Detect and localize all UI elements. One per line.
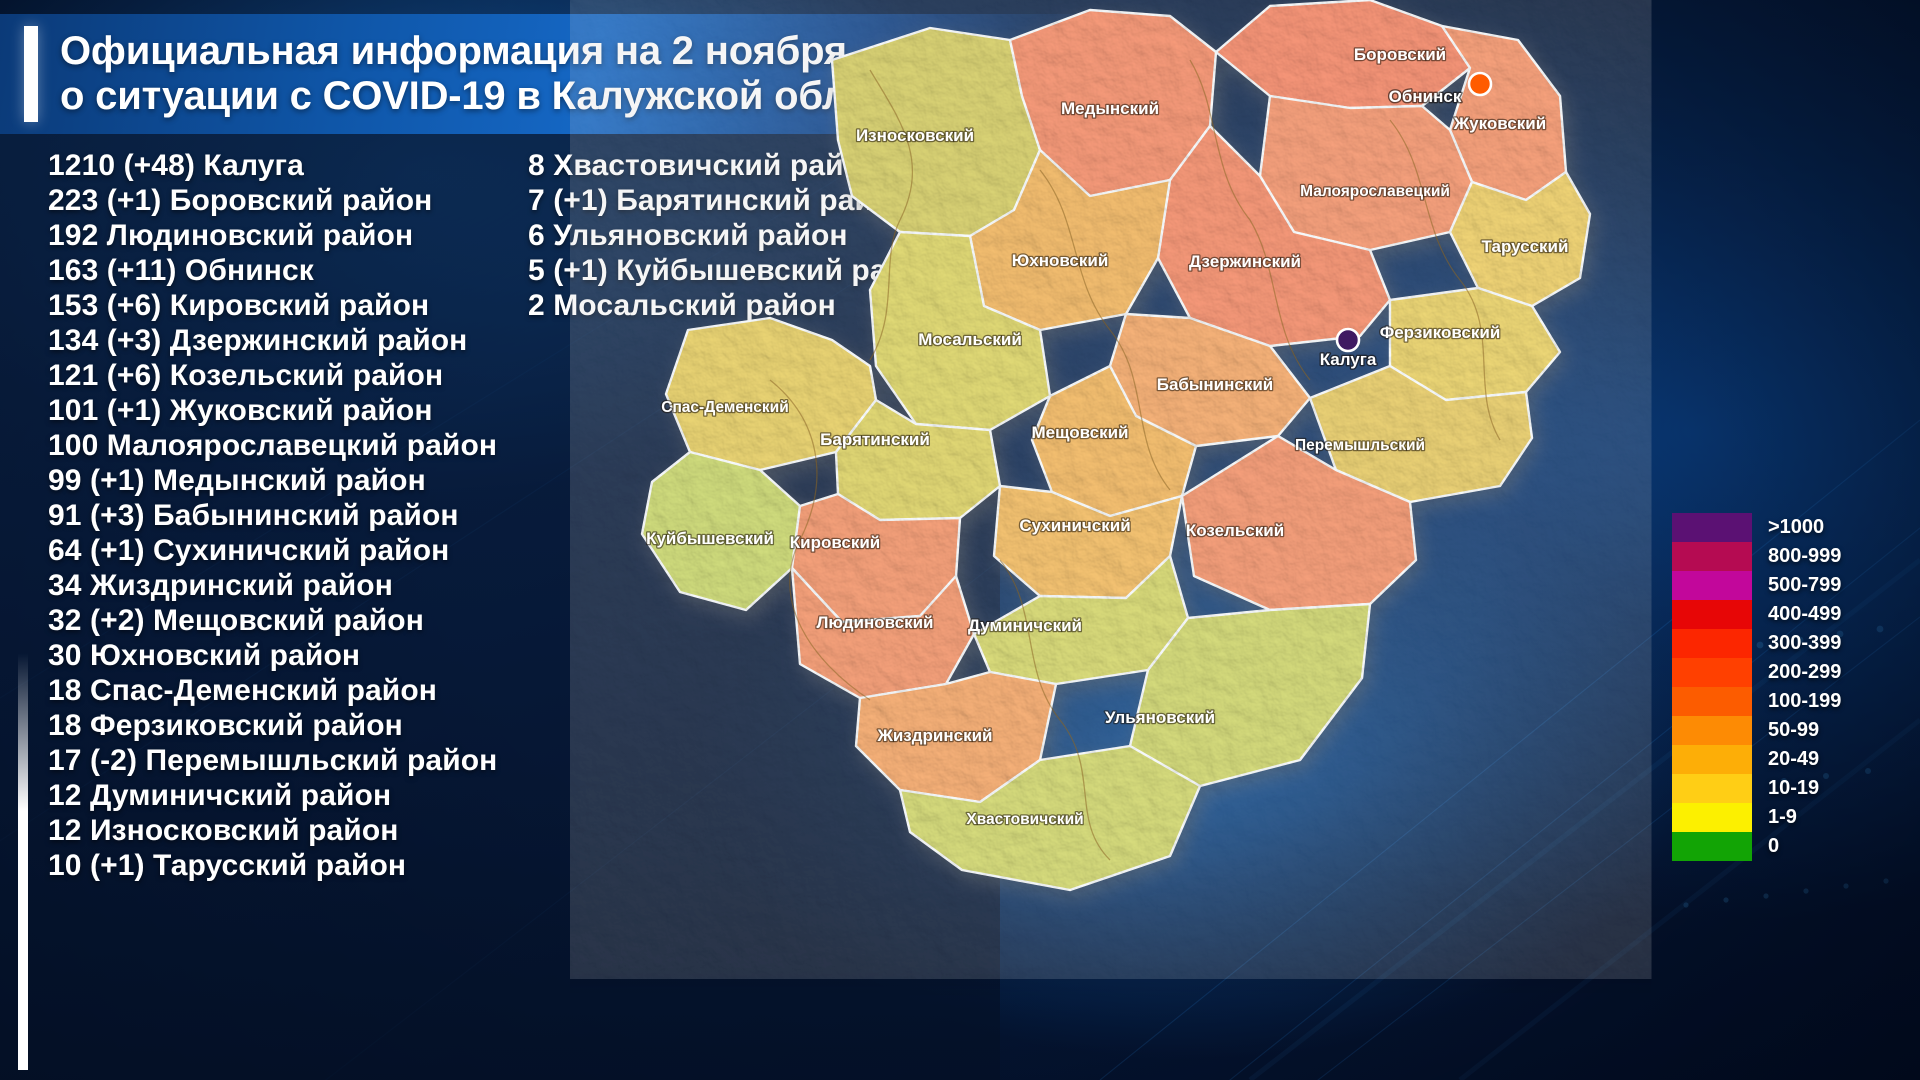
statistic-row: 34 Жиздринский район [48, 568, 528, 603]
statistic-row: 12 Думиничский район [48, 778, 528, 813]
statistic-row: 153 (+6) Кировский район [48, 288, 528, 323]
district-label: Тарусский [1482, 237, 1569, 256]
legend-label: 50-99 [1768, 716, 1841, 745]
district-label: Жуковский [1453, 114, 1546, 133]
legend-swatch [1672, 571, 1752, 600]
district-label: Кировский [790, 533, 881, 552]
statistic-row: 18 Спас-Деменский район [48, 673, 528, 708]
legend-label: 0 [1768, 832, 1841, 861]
district-label: Барятинский [820, 430, 930, 449]
district-label: Козельский [1186, 521, 1284, 540]
legend-label: 100-199 [1768, 687, 1841, 716]
statistic-row: 192 Людиновский район [48, 218, 528, 253]
district-label: Думиничский [968, 616, 1082, 635]
statistics-column-primary: 1210 (+48) Калуга223 (+1) Боровский райо… [48, 148, 528, 883]
legend-swatch [1672, 745, 1752, 774]
panel-accent-bar [18, 144, 28, 1070]
district-label: Ульяновский [1105, 708, 1215, 727]
legend-label: 1-9 [1768, 803, 1841, 832]
statistic-row: 17 (-2) Перемышльский район [48, 743, 528, 778]
district-label: Износковский [856, 126, 974, 145]
city-dot-icon [1469, 73, 1491, 95]
district-label: Бабынинский [1157, 375, 1274, 394]
legend-swatch [1672, 629, 1752, 658]
district-label: Хвастовичский [966, 811, 1083, 828]
statistic-row: 163 (+11) Обнинск [48, 253, 528, 288]
district-label: Людиновский [816, 613, 933, 632]
statistic-row: 91 (+3) Бабынинский район [48, 498, 528, 533]
legend-swatch [1672, 600, 1752, 629]
legend-label: 500-799 [1768, 571, 1841, 600]
statistic-row: 12 Износковский район [48, 813, 528, 848]
city-dot-icon [1337, 329, 1359, 351]
district-label: Боровский [1354, 45, 1446, 64]
legend-label: 20-49 [1768, 745, 1841, 774]
statistic-row: 134 (+3) Дзержинский район [48, 323, 528, 358]
district-label: Медынский [1061, 99, 1159, 118]
legend-swatch [1672, 687, 1752, 716]
legend-swatch [1672, 803, 1752, 832]
legend-label: 400-499 [1768, 600, 1841, 629]
district-label: Дзержинский [1189, 252, 1301, 271]
legend-swatch [1672, 832, 1752, 861]
statistic-row: 100 Малоярославецкий район [48, 428, 528, 463]
city-label: Обнинск [1389, 87, 1462, 106]
statistic-row: 64 (+1) Сухиничский район [48, 533, 528, 568]
statistic-row: 32 (+2) Мещовский район [48, 603, 528, 638]
legend-swatch [1672, 716, 1752, 745]
district-label: Куйбышевский [646, 529, 774, 548]
legend-label: 800-999 [1768, 542, 1841, 571]
district-label: Сухиничский [1019, 516, 1130, 535]
district-label: Ферзиковский [1380, 323, 1501, 342]
district-label: Жиздринский [876, 726, 992, 745]
district-label: Перемышльский [1295, 437, 1425, 454]
district-label: Юхновский [1012, 251, 1109, 270]
infographic-root: Официальная информация на 2 ноября о сит… [0, 0, 1920, 1080]
legend-label: >1000 [1768, 513, 1841, 542]
district-label: Мосальский [918, 330, 1022, 349]
statistic-row: 18 Ферзиковский район [48, 708, 528, 743]
statistic-row: 99 (+1) Медынский район [48, 463, 528, 498]
statistic-row: 10 (+1) Тарусский район [48, 848, 528, 883]
statistic-row: 1210 (+48) Калуга [48, 148, 528, 183]
legend-swatch [1672, 658, 1752, 687]
legend-swatch [1672, 542, 1752, 571]
district-label: Спас-Деменский [661, 399, 789, 416]
city-label: Калуга [1320, 350, 1377, 369]
legend-label: 200-299 [1768, 658, 1841, 687]
legend-swatches [1672, 513, 1752, 861]
district-label: Мещовский [1031, 423, 1128, 442]
legend-swatch [1672, 513, 1752, 542]
legend-labels: >1000800-999500-799400-499300-399200-299… [1768, 513, 1841, 861]
statistic-row: 223 (+1) Боровский район [48, 183, 528, 218]
district-label: Малоярославецкий [1300, 183, 1450, 200]
legend-label: 10-19 [1768, 774, 1841, 803]
statistic-row: 121 (+6) Козельский район [48, 358, 528, 393]
legend-swatch [1672, 774, 1752, 803]
statistic-row: 101 (+1) Жуковский район [48, 393, 528, 428]
statistic-row: 30 Юхновский район [48, 638, 528, 673]
title-accent-bar [24, 26, 38, 122]
legend-label: 300-399 [1768, 629, 1841, 658]
